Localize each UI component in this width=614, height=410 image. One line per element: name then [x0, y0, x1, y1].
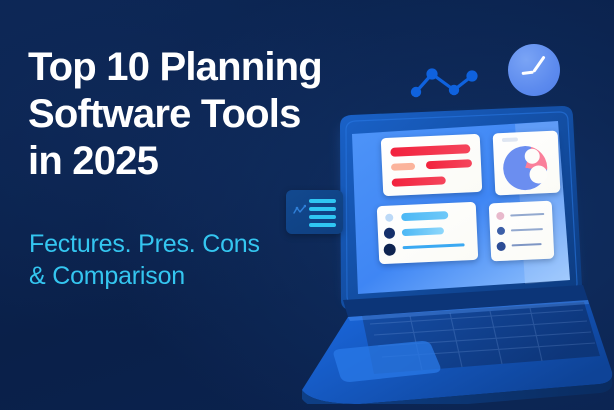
list-card-line-2 — [309, 207, 336, 211]
line-chart-point-3 — [449, 85, 459, 95]
line-chart-path — [416, 74, 472, 92]
page-title: Top 10 Planning Software Tools in 2025 — [28, 44, 378, 185]
list-card-sparkline-icon — [293, 204, 306, 218]
headline-line-3: in 2025 — [28, 138, 378, 185]
clock-hand-short — [521, 70, 533, 75]
clock-icon — [508, 44, 560, 96]
poster-canvas: Top 10 Planning Software Tools in 2025 F… — [0, 0, 614, 410]
line-chart-point-1 — [411, 87, 421, 97]
subtitle-line-2: & Comparison — [29, 260, 359, 292]
line-chart-icon — [408, 58, 480, 104]
line-chart-point-4 — [466, 70, 477, 81]
list-card-icon — [286, 190, 343, 234]
list-card-line-1 — [309, 199, 336, 203]
clock-hand-long — [532, 56, 546, 73]
list-card-line-4 — [309, 223, 336, 227]
headline-line-2: Software Tools — [28, 91, 378, 138]
page-subtitle: Fectures. Pres. Cons & Comparison — [29, 228, 359, 292]
list-card-line-3 — [309, 215, 336, 219]
line-chart-point-2 — [426, 68, 437, 79]
headline-line-1: Top 10 Planning — [28, 44, 378, 91]
